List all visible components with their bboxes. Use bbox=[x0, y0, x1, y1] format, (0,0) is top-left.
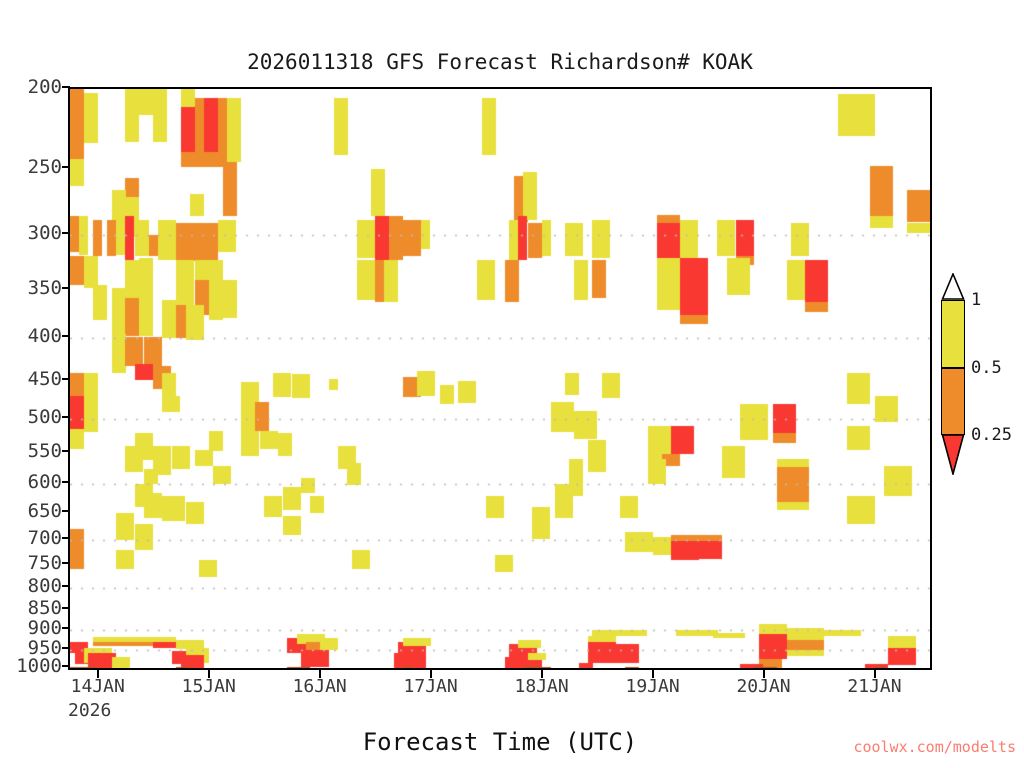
y-axis-tick-mark bbox=[62, 537, 70, 539]
colorbar-segment bbox=[941, 300, 965, 368]
chart-page: 2026011318 GFS Forecast Richardson# KOAK… bbox=[0, 0, 1024, 768]
colorbar-legend: 10.50.25 bbox=[941, 300, 965, 435]
y-axis-tick-mark bbox=[62, 510, 70, 512]
x-axis-tick-label: 16JAN bbox=[293, 676, 347, 697]
y-axis-tick-label: 700 bbox=[28, 527, 62, 549]
y-axis-tick-label: 600 bbox=[28, 471, 62, 493]
y-axis-tick-label: 350 bbox=[28, 277, 62, 299]
x-axis-tick-label: 20JAN bbox=[736, 676, 790, 697]
y-axis-tick-mark bbox=[62, 232, 70, 234]
y-axis-tick-mark bbox=[62, 607, 70, 609]
page-title: 2026011318 GFS Forecast Richardson# KOAK bbox=[0, 50, 1000, 74]
y-axis-tick-label: 200 bbox=[28, 76, 62, 98]
x-axis-year-label: 2026 bbox=[68, 700, 111, 721]
plot-area bbox=[68, 87, 932, 670]
colorbar-tick-label: 1 bbox=[971, 290, 981, 310]
y-axis-tick-label: 850 bbox=[28, 597, 62, 619]
y-axis-tick-label: 550 bbox=[28, 440, 62, 462]
y-axis-tick-label: 1000 bbox=[16, 655, 62, 677]
colorbar-tick-label: 0.5 bbox=[971, 358, 1002, 378]
y-axis-tick-mark bbox=[62, 647, 70, 649]
y-axis-tick-mark bbox=[62, 166, 70, 168]
x-axis-tick-label: 14JAN bbox=[71, 676, 125, 697]
y-axis-tick-mark bbox=[62, 450, 70, 452]
x-axis-tick-label: 15JAN bbox=[182, 676, 236, 697]
watermark-credit: coolwx.com/modelts bbox=[853, 738, 1016, 756]
y-axis-tick-label: 800 bbox=[28, 575, 62, 597]
x-axis-title: Forecast Time (UTC) bbox=[0, 728, 1000, 756]
y-axis-tick-mark bbox=[62, 665, 70, 667]
y-axis-tick-mark bbox=[62, 416, 70, 418]
x-axis-tick-label: 17JAN bbox=[404, 676, 458, 697]
colorbar-tick-label: 0.25 bbox=[971, 425, 1012, 445]
heatmap-canvas bbox=[70, 89, 930, 668]
y-axis-tick-mark bbox=[62, 378, 70, 380]
y-axis-tick-label: 500 bbox=[28, 406, 62, 428]
y-axis-tick-mark bbox=[62, 86, 70, 88]
colorbar-under-arrow-icon bbox=[941, 434, 965, 475]
y-axis-tick-mark bbox=[62, 585, 70, 587]
y-axis-tick-mark bbox=[62, 627, 70, 629]
y-axis-tick-label: 650 bbox=[28, 500, 62, 522]
x-axis-tick-label: 18JAN bbox=[515, 676, 569, 697]
y-axis-tick-label: 400 bbox=[28, 325, 62, 347]
y-axis-tick-label: 450 bbox=[28, 368, 62, 390]
y-axis-tick-label: 750 bbox=[28, 552, 62, 574]
x-axis-tick-label: 19JAN bbox=[625, 676, 679, 697]
colorbar-segment bbox=[941, 368, 965, 436]
y-axis-tick-mark bbox=[62, 562, 70, 564]
y-axis-tick-mark bbox=[62, 335, 70, 337]
x-axis-tick-label: 21JAN bbox=[847, 676, 901, 697]
y-axis-tick-mark bbox=[62, 287, 70, 289]
colorbar-over-arrow-icon bbox=[941, 273, 965, 300]
y-axis-labels: 2002503003504004505005506006507007508008… bbox=[0, 0, 62, 768]
y-axis-tick-label: 300 bbox=[28, 222, 62, 244]
y-axis-tick-label: 250 bbox=[28, 156, 62, 178]
y-axis-tick-mark bbox=[62, 481, 70, 483]
